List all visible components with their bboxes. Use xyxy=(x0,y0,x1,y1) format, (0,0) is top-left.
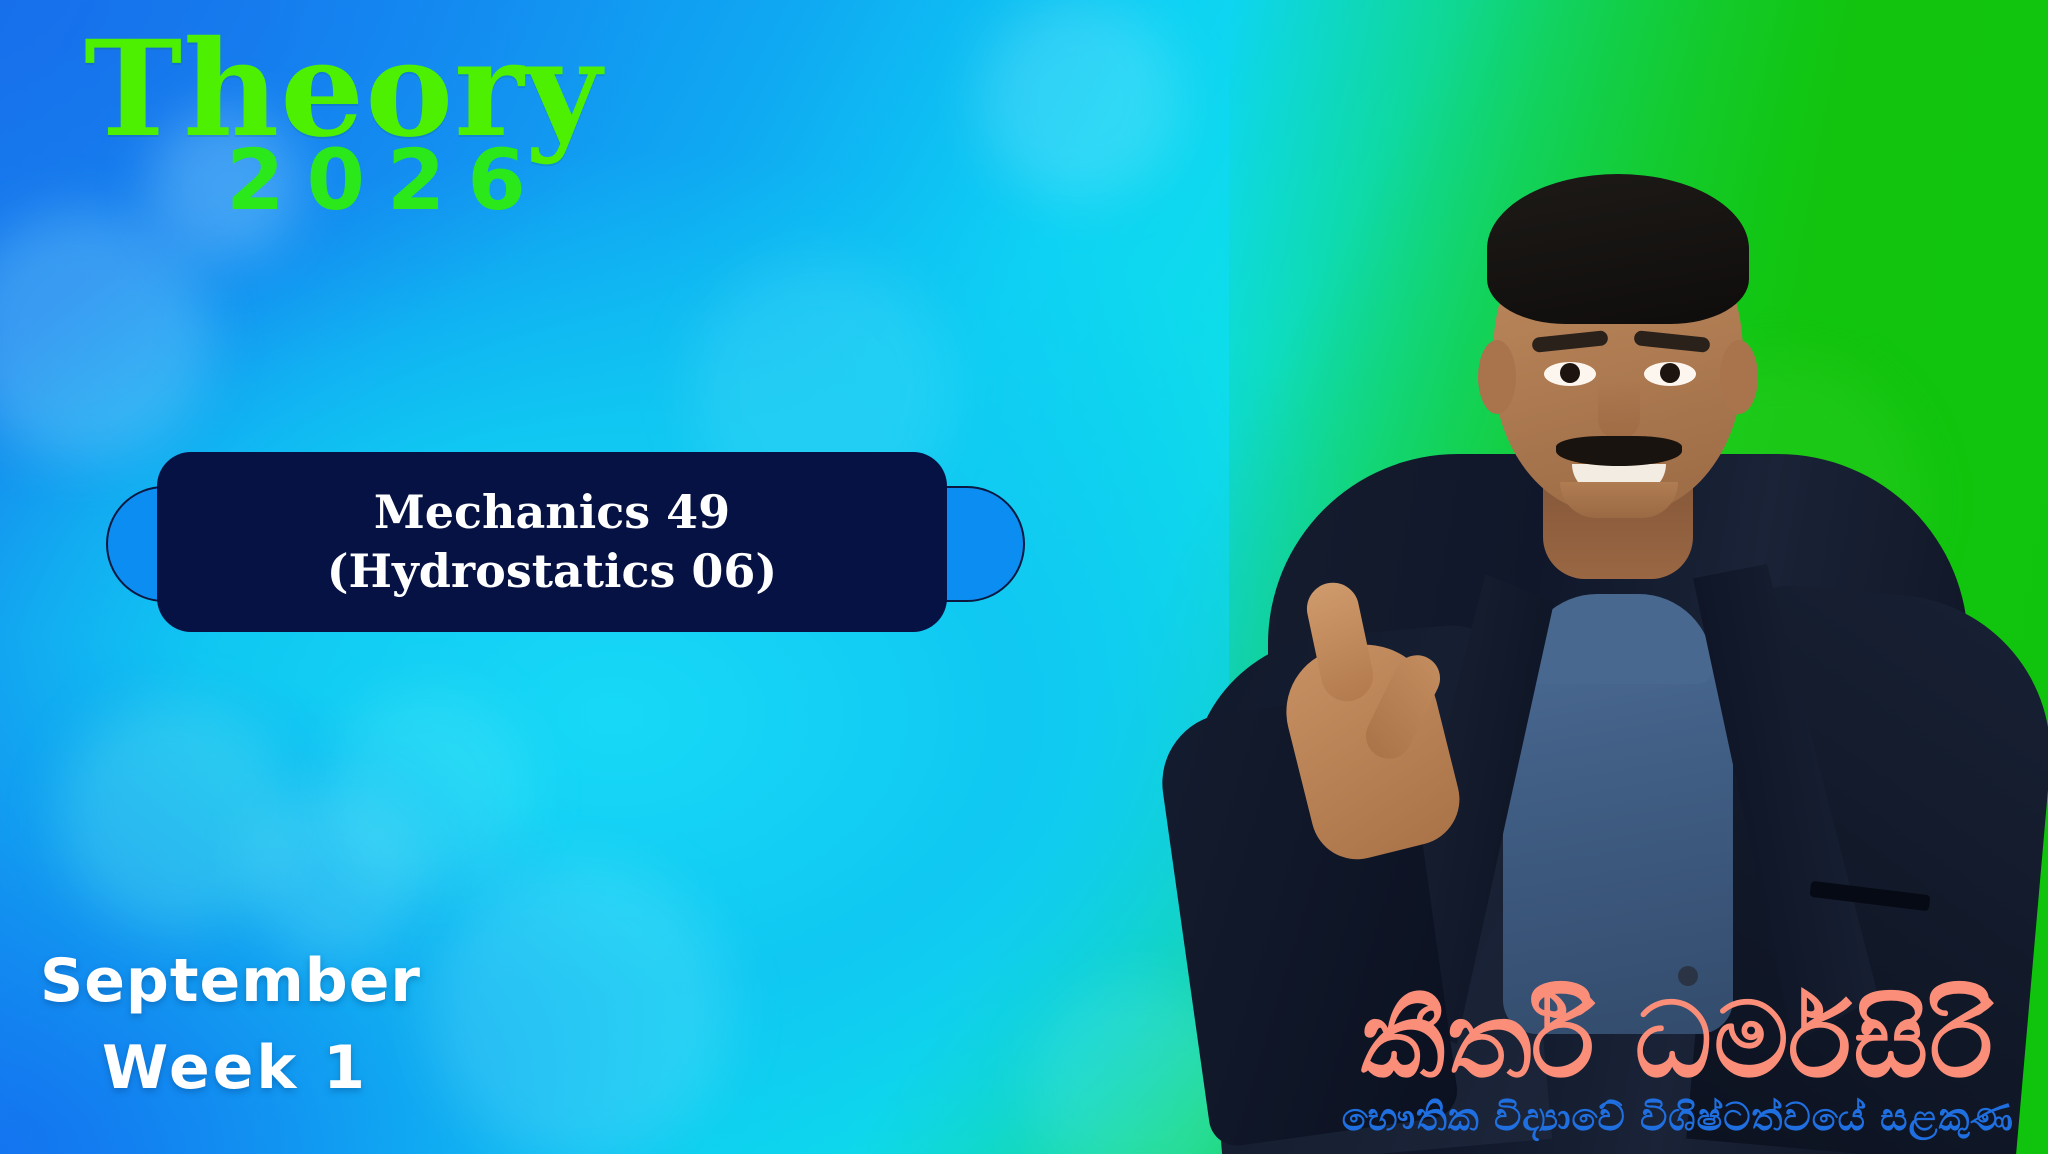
lesson-title-plate: Mechanics 49 (Hydrostatics 06) xyxy=(100,452,1045,632)
presenter-ear-left xyxy=(1478,340,1516,414)
schedule-week: Week 1 xyxy=(102,1025,421,1112)
schedule-block: September Week 1 xyxy=(40,938,421,1112)
lesson-title-line-2: (Hydrostatics 06) xyxy=(327,542,777,601)
presenter-hair xyxy=(1487,174,1749,324)
presenter-pupil-left xyxy=(1560,363,1580,383)
presenter-chin xyxy=(1560,482,1678,518)
presenter-name: කීර්ති ධර්මසිරි xyxy=(1342,988,2014,1092)
presenter-mustache xyxy=(1556,436,1682,466)
presenter-tagline: භෞතික විද්‍යාවේ විශිෂ්ටත්වයේ සළකුණ xyxy=(1342,1098,2014,1136)
presenter-nose xyxy=(1598,382,1640,440)
presenter-ear-right xyxy=(1720,340,1758,414)
presenter-name-block: කීර්ති ධර්මසිරි භෞතික විද්‍යාවේ විශිෂ්ටත… xyxy=(1342,988,2014,1136)
lesson-title-line-1: Mechanics 49 xyxy=(374,483,730,542)
presenter-pupil-right xyxy=(1660,363,1680,383)
schedule-month: September xyxy=(40,938,421,1025)
brand-headline: Theory 2026 xyxy=(84,24,602,222)
lesson-thumbnail: Theory 2026 Mechanics 49 (Hydrostatics 0… xyxy=(0,0,2048,1154)
title-plate-box: Mechanics 49 (Hydrostatics 06) xyxy=(157,452,947,632)
headline-year: 2026 xyxy=(226,138,602,222)
